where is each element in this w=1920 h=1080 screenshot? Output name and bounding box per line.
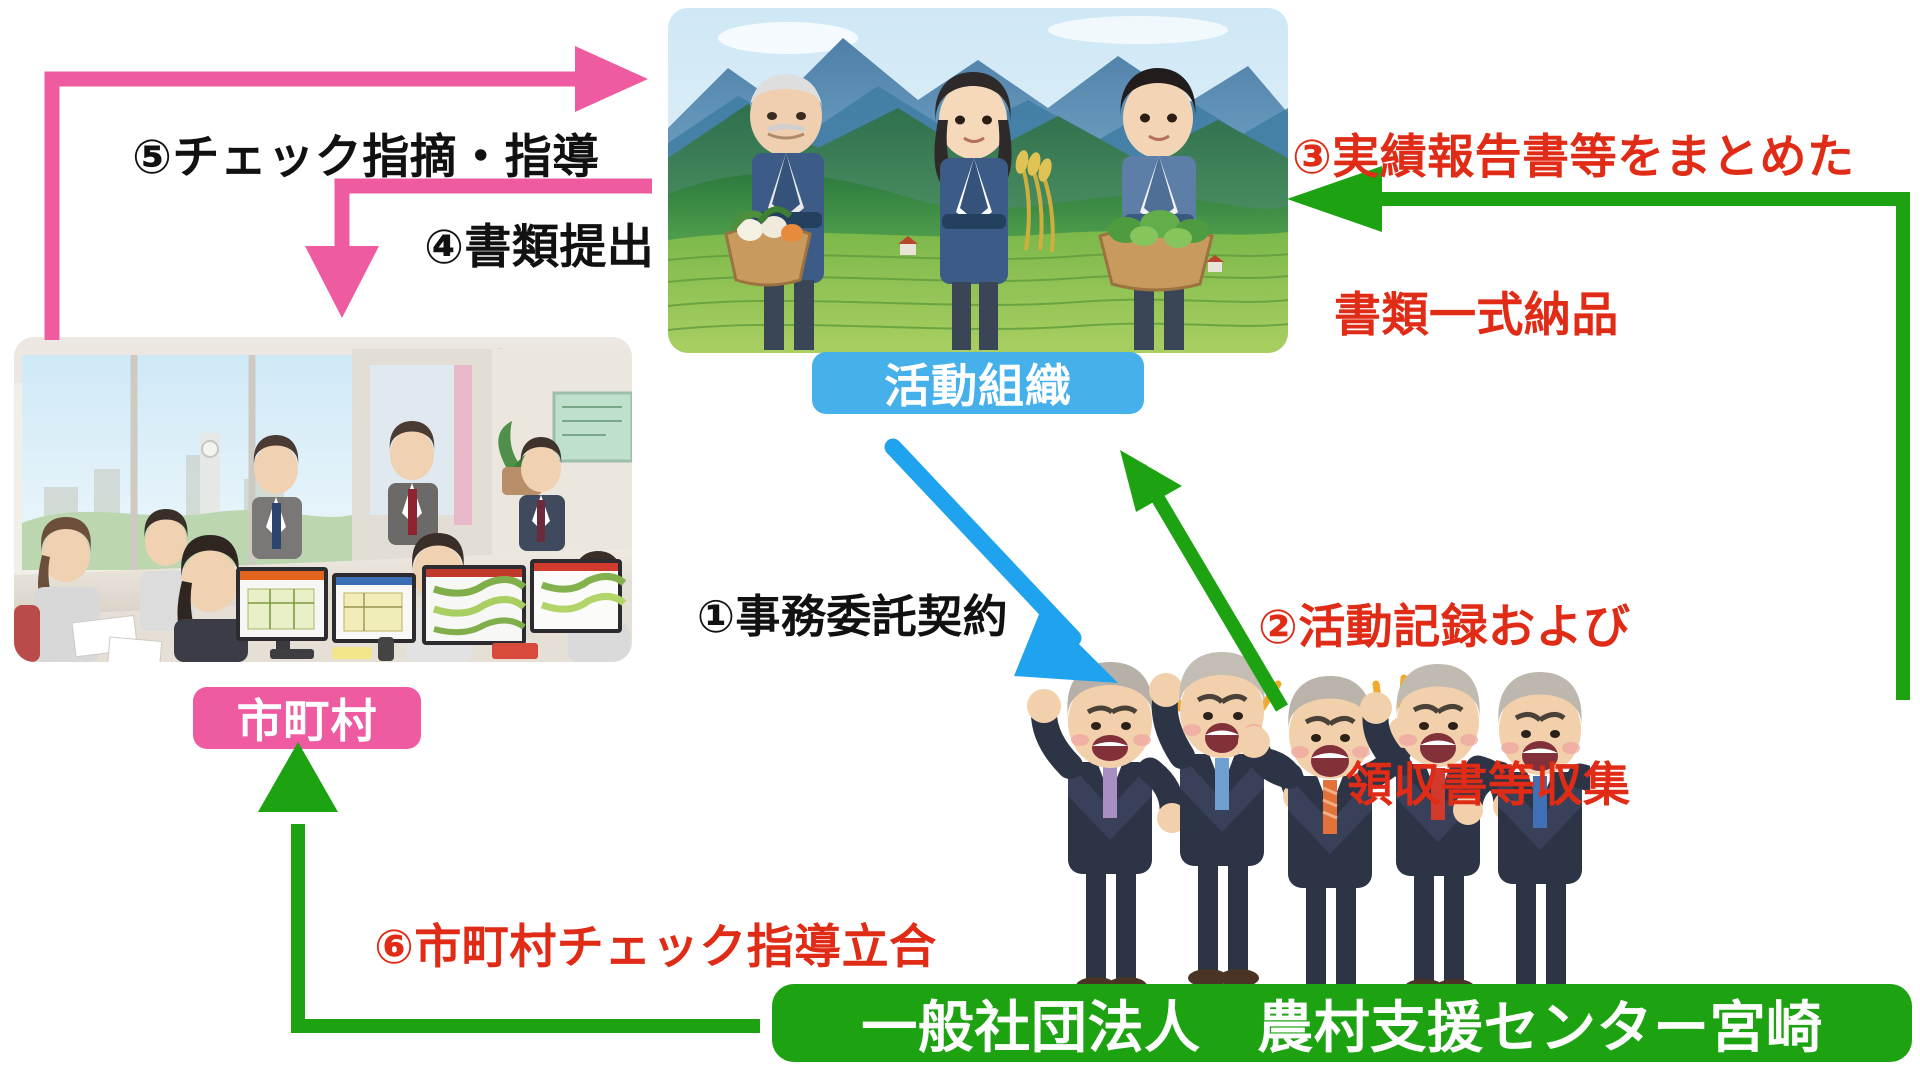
arrow-flow-6-head xyxy=(258,742,338,812)
flow-3-line-2: 書類一式納品 xyxy=(1292,289,1854,342)
diagram-canvas: 活動組織 xyxy=(0,0,1920,1080)
municipality-badge: 市町村 xyxy=(193,687,421,749)
flow-3-label: ③実績報告書等をまとめた 書類一式納品 xyxy=(1292,26,1854,447)
municipality-badge-label: 市町村 xyxy=(237,685,378,751)
flow-1-label: ①事務委託契約 xyxy=(645,542,1008,693)
flow-4-label: ④書類提出 xyxy=(370,168,654,326)
flow-4-text: ④書類提出 xyxy=(424,220,654,273)
activity-org-badge-label: 活動組織 xyxy=(884,350,1072,416)
activity-org-badge: 活動組織 xyxy=(812,352,1144,414)
flow-3-line-1: ③実績報告書等をまとめた xyxy=(1292,131,1854,184)
arrow-flow-2-head xyxy=(1120,450,1182,512)
activity-org-image xyxy=(668,8,1288,353)
flow-1-text: ①事務委託契約 xyxy=(697,591,1008,642)
flow-2-line-1: ②活動記録および xyxy=(1258,601,1631,654)
municipality-image xyxy=(14,337,632,662)
support-center-banner-label: 一般社団法人 農村支援センター宮崎 xyxy=(861,983,1823,1064)
arrow-flow-4-head xyxy=(305,246,379,318)
support-center-banner: 一般社団法人 農村支援センター宮崎 xyxy=(772,984,1912,1062)
flow-6-text: ⑥市町村チェック指導立合 xyxy=(374,920,936,973)
flow-2-line-2: 領収書等収集 xyxy=(1258,759,1631,812)
flow-2-label: ②活動記録および 領収書等収集 xyxy=(1258,496,1631,917)
